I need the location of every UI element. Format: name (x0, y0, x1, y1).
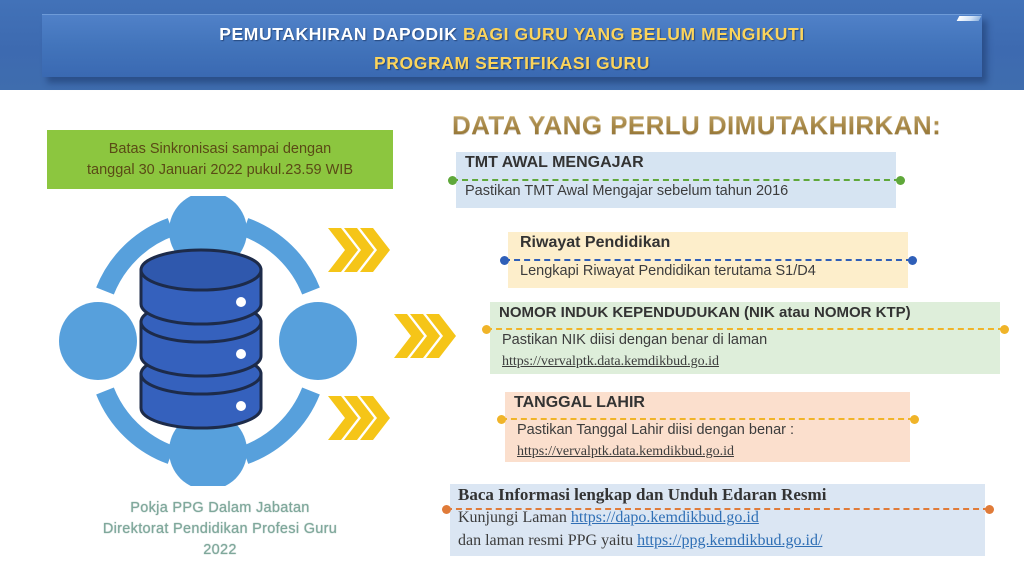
card-riwayat-body: Lengkapi Riwayat Pendidikan terutama S1/… (520, 263, 816, 279)
card-info-line-1: Kunjungi Laman https://dapo.kemdikbud.go… (458, 509, 759, 527)
card-riwayat-dot-right (908, 256, 917, 265)
card-tanggal-dot-left (497, 415, 506, 424)
card-info-prefix-1: Kunjungi Laman (458, 509, 571, 526)
card-riwayat-title: Riwayat Pendidikan (520, 234, 920, 252)
node-circle-left (59, 302, 137, 380)
card-info-prefix-2: dan laman resmi PPG yaitu (458, 532, 637, 549)
header-banner: PEMUTAKHIRAN DAPODIK BAGI GURU YANG BELU… (0, 0, 1024, 90)
card-tanggal-divider (501, 418, 914, 420)
deadline-box: Batas Sinkronisasi sampai dengan tanggal… (47, 130, 393, 189)
card-nik-dot-left (482, 325, 491, 334)
card-nik-title: NOMOR INDUK KEPENDUDUKAN (NIK atau NOMOR… (499, 304, 1009, 321)
chevron-group-bottom (328, 396, 390, 440)
chevron-group-top (328, 228, 390, 272)
database-icon (58, 196, 358, 486)
deadline-line-2: tanggal 30 Januari 2022 pukul.23.59 WIB (87, 160, 353, 181)
section-title: DATA YANG PERLU DIMUTAKHIRKAN: (452, 110, 941, 141)
card-info-link-ppg[interactable]: https://ppg.kemdikbud.go.id/ (637, 532, 822, 549)
card-riwayat-divider (504, 259, 912, 261)
database-illustration (58, 196, 358, 486)
banner-title-line-1: PEMUTAKHIRAN DAPODIK BAGI GURU YANG BELU… (42, 15, 982, 49)
card-tanggal-body: Pastikan Tanggal Lahir diisi dengan bena… (517, 422, 794, 438)
card-tmt-divider (452, 179, 900, 181)
card-nomor-induk-kependudukan: NOMOR INDUK KEPENDUDUKAN (NIK atau NOMOR… (490, 302, 1000, 374)
database-cylinder (141, 250, 261, 428)
card-tanggal-lahir: TANGGAL LAHIR Pastikan Tanggal Lahir dii… (505, 392, 910, 462)
credit-line-1: Pokja PPG Dalam Jabatan (50, 498, 390, 519)
card-riwayat-dot-left (500, 256, 509, 265)
card-tanggal-dot-right (910, 415, 919, 424)
card-info-dot-left (442, 505, 451, 514)
card-tmt-title: TMT AWAL MENGAJAR (465, 154, 905, 172)
deadline-line-1: Batas Sinkronisasi sampai dengan (109, 139, 331, 160)
card-nik-divider (486, 328, 1004, 330)
banner-corner-highlight (957, 16, 982, 21)
card-tmt-dot-left (448, 176, 457, 185)
card-info-title: Baca Informasi lengkap dan Unduh Edaran … (458, 485, 993, 505)
node-circle-right (279, 302, 357, 380)
credit-line-3: 2022 (50, 540, 390, 561)
chevron-group-middle (394, 314, 456, 358)
credit-block: Pokja PPG Dalam Jabatan Direktorat Pendi… (50, 498, 390, 561)
card-info-line-2: dan laman resmi PPG yaitu https://ppg.ke… (458, 532, 822, 550)
banner-subtitle-yellow: PROGRAM SERTIFIKASI GURU (374, 53, 650, 73)
infographic-slide: PEMUTAKHIRAN DAPODIK BAGI GURU YANG BELU… (0, 0, 1024, 576)
card-nik-link[interactable]: https://vervalptk.data.kemdikbud.go.id (502, 354, 719, 370)
banner-title-white: PEMUTAKHIRAN DAPODIK (219, 24, 463, 44)
banner-title-yellow: BAGI GURU YANG BELUM MENGIKUTI (463, 24, 805, 44)
card-tmt-body: Pastikan TMT Awal Mengajar sebelum tahun… (465, 183, 788, 199)
card-nik-body: Pastikan NIK diisi dengan benar di laman (502, 332, 767, 348)
card-tanggal-link[interactable]: https://vervalptk.data.kemdikbud.go.id (517, 444, 734, 460)
card-tanggal-title: TANGGAL LAHIR (514, 394, 919, 412)
card-baca-informasi: Baca Informasi lengkap dan Unduh Edaran … (450, 484, 985, 556)
banner-title-line-2: PROGRAM SERTIFIKASI GURU (42, 49, 982, 78)
card-nik-dot-right (1000, 325, 1009, 334)
card-info-dot-right (985, 505, 994, 514)
card-tmt-dot-right (896, 176, 905, 185)
card-tmt-awal-mengajar: TMT AWAL MENGAJAR Pastikan TMT Awal Meng… (456, 152, 896, 208)
header-banner-inner: PEMUTAKHIRAN DAPODIK BAGI GURU YANG BELU… (42, 14, 982, 77)
card-riwayat-pendidikan: Riwayat Pendidikan Lengkapi Riwayat Pend… (508, 232, 908, 288)
card-info-link-dapo[interactable]: https://dapo.kemdikbud.go.id (571, 509, 759, 526)
credit-line-2: Direktorat Pendidikan Profesi Guru (50, 519, 390, 540)
